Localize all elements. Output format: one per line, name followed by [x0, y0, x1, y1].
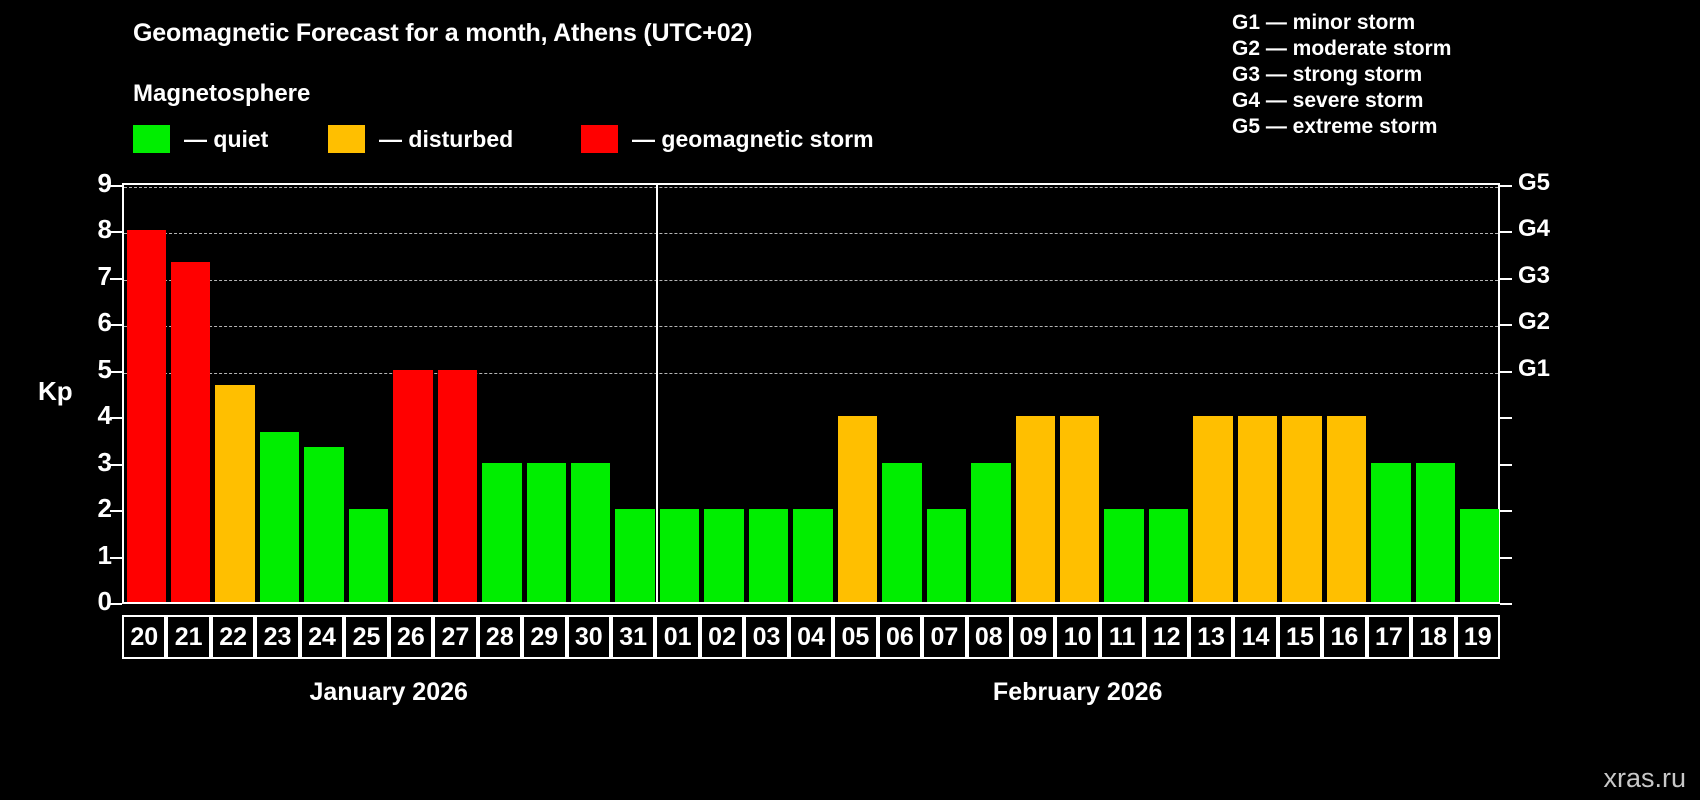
y-tick-mark-1: [110, 557, 122, 559]
y-tick-label-1: 1: [72, 540, 112, 571]
bar-day-19[interactable]: [1460, 509, 1499, 602]
day-label-15[interactable]: 15: [1278, 615, 1322, 659]
day-label-02[interactable]: 02: [700, 615, 744, 659]
bar-day-06[interactable]: [882, 463, 921, 602]
y-tick-mark-0: [110, 603, 122, 605]
g-axis-minor-tick-kp-2: [1500, 510, 1512, 512]
bar-day-20[interactable]: [127, 230, 166, 602]
g-scale-row-3: G3 — strong storm: [1232, 62, 1451, 88]
bar-day-22[interactable]: [215, 385, 254, 602]
day-label-11[interactable]: 11: [1100, 615, 1144, 659]
g-tick-label-G1: G1: [1518, 355, 1550, 383]
day-label-24[interactable]: 24: [300, 615, 344, 659]
day-label-17[interactable]: 17: [1367, 615, 1411, 659]
g-tick-label-G5: G5: [1518, 169, 1550, 197]
month-divider: [656, 185, 658, 602]
bar-day-28[interactable]: [482, 463, 521, 602]
bar-day-11[interactable]: [1104, 509, 1143, 602]
y-tick-mark-4: [110, 417, 122, 419]
g-tick-label-G4: G4: [1518, 215, 1550, 243]
bars-container: [124, 185, 1498, 602]
y-tick-label-7: 7: [72, 261, 112, 292]
bar-day-09[interactable]: [1016, 416, 1055, 602]
watermark: xras.ru: [1603, 763, 1686, 794]
day-label-03[interactable]: 03: [744, 615, 788, 659]
g-axis-minor-tick-kp-0: [1500, 603, 1512, 605]
day-label-07[interactable]: 07: [922, 615, 966, 659]
bar-day-02[interactable]: [704, 509, 743, 602]
bar-day-26[interactable]: [393, 370, 432, 602]
y-axis-label: Kp: [38, 376, 73, 407]
day-label-09[interactable]: 09: [1011, 615, 1055, 659]
legend-storm-swatch-icon: [581, 125, 618, 153]
g-tick-label-G2: G2: [1518, 308, 1550, 336]
y-tick-mark-8: [110, 231, 122, 233]
bar-day-08[interactable]: [971, 463, 1010, 602]
g-tick-mark-G3: [1500, 278, 1512, 280]
y-tick-mark-7: [110, 278, 122, 280]
day-label-23[interactable]: 23: [255, 615, 299, 659]
day-label-06[interactable]: 06: [878, 615, 922, 659]
y-tick-label-4: 4: [72, 400, 112, 431]
y-tick-label-0: 0: [72, 586, 112, 617]
g-scale-legend: G1 — minor stormG2 — moderate stormG3 — …: [1232, 10, 1451, 140]
y-tick-label-5: 5: [72, 354, 112, 385]
legend-disturbed: — disturbed: [328, 124, 513, 154]
y-tick-label-3: 3: [72, 447, 112, 478]
bar-day-23[interactable]: [260, 432, 299, 602]
day-label-26[interactable]: 26: [389, 615, 433, 659]
bar-day-25[interactable]: [349, 509, 388, 602]
bar-day-03[interactable]: [749, 509, 788, 602]
legend-disturbed-swatch-icon: [328, 125, 365, 153]
g-tick-label-G3: G3: [1518, 262, 1550, 290]
y-tick-mark-9: [110, 185, 122, 187]
y-tick-mark-2: [110, 510, 122, 512]
day-label-30[interactable]: 30: [567, 615, 611, 659]
month-label-january: January 2026: [229, 678, 549, 707]
bar-day-24[interactable]: [304, 447, 343, 602]
bar-day-31[interactable]: [615, 509, 654, 602]
day-label-13[interactable]: 13: [1189, 615, 1233, 659]
g-tick-mark-G4: [1500, 231, 1512, 233]
bar-day-01[interactable]: [660, 509, 699, 602]
g-scale-row-2: G2 — moderate storm: [1232, 36, 1451, 62]
g-tick-mark-G1: [1500, 371, 1512, 373]
day-label-28[interactable]: 28: [478, 615, 522, 659]
day-label-18[interactable]: 18: [1411, 615, 1455, 659]
bar-day-15[interactable]: [1282, 416, 1321, 602]
x-axis-day-labels: 2021222324252627282930310102030405060708…: [122, 615, 1500, 659]
y-tick-label-8: 8: [72, 214, 112, 245]
day-label-04[interactable]: 04: [789, 615, 833, 659]
y-tick-label-2: 2: [72, 493, 112, 524]
day-label-14[interactable]: 14: [1233, 615, 1277, 659]
bar-day-21[interactable]: [171, 262, 210, 602]
bar-day-30[interactable]: [571, 463, 610, 602]
chart-subtitle: Magnetosphere: [133, 80, 310, 108]
geomagnetic-forecast-chart: Geomagnetic Forecast for a month, Athens…: [0, 0, 1700, 800]
day-label-12[interactable]: 12: [1144, 615, 1188, 659]
bar-day-29[interactable]: [527, 463, 566, 602]
day-label-31[interactable]: 31: [611, 615, 655, 659]
y-tick-mark-5: [110, 371, 122, 373]
g-axis-minor-tick-kp-3: [1500, 464, 1512, 466]
g-scale-row-1: G1 — minor storm: [1232, 10, 1451, 36]
day-label-16[interactable]: 16: [1322, 615, 1366, 659]
legend-storm: — geomagnetic storm: [581, 124, 874, 154]
g-axis-minor-tick-kp-1: [1500, 557, 1512, 559]
day-label-10[interactable]: 10: [1055, 615, 1099, 659]
y-tick-label-9: 9: [72, 168, 112, 199]
bar-day-07[interactable]: [927, 509, 966, 602]
bar-day-10[interactable]: [1060, 416, 1099, 602]
g-tick-mark-G2: [1500, 324, 1512, 326]
day-label-21[interactable]: 21: [166, 615, 210, 659]
bar-day-14[interactable]: [1238, 416, 1277, 602]
day-label-05[interactable]: 05: [833, 615, 877, 659]
bar-day-04[interactable]: [793, 509, 832, 602]
page-title: Geomagnetic Forecast for a month, Athens…: [133, 19, 752, 48]
y-tick-mark-6: [110, 324, 122, 326]
bar-day-27[interactable]: [438, 370, 477, 602]
day-label-08[interactable]: 08: [967, 615, 1011, 659]
day-label-20[interactable]: 20: [122, 615, 166, 659]
g-axis-minor-tick-kp-4: [1500, 417, 1512, 419]
plot-area: [122, 183, 1500, 604]
g-tick-mark-G5: [1500, 185, 1512, 187]
day-label-25[interactable]: 25: [344, 615, 388, 659]
legend-quiet-swatch-icon: [133, 125, 170, 153]
g-scale-row-4: G4 — severe storm: [1232, 88, 1451, 114]
y-tick-mark-3: [110, 464, 122, 466]
bar-day-12[interactable]: [1149, 509, 1188, 602]
legend-quiet: — quiet: [133, 124, 268, 154]
day-label-29[interactable]: 29: [522, 615, 566, 659]
bar-day-05[interactable]: [838, 416, 877, 602]
day-label-01[interactable]: 01: [655, 615, 699, 659]
bar-day-18[interactable]: [1416, 463, 1455, 602]
legend-quiet-label: — quiet: [184, 126, 268, 153]
day-label-19[interactable]: 19: [1456, 615, 1500, 659]
month-label-february: February 2026: [918, 678, 1238, 707]
bar-day-13[interactable]: [1193, 416, 1232, 602]
bar-day-17[interactable]: [1371, 463, 1410, 602]
day-label-27[interactable]: 27: [433, 615, 477, 659]
legend-disturbed-label: — disturbed: [379, 126, 513, 153]
legend-storm-label: — geomagnetic storm: [632, 126, 874, 153]
y-tick-label-6: 6: [72, 307, 112, 338]
g-scale-row-5: G5 — extreme storm: [1232, 114, 1451, 140]
day-label-22[interactable]: 22: [211, 615, 255, 659]
bar-day-16[interactable]: [1327, 416, 1366, 602]
